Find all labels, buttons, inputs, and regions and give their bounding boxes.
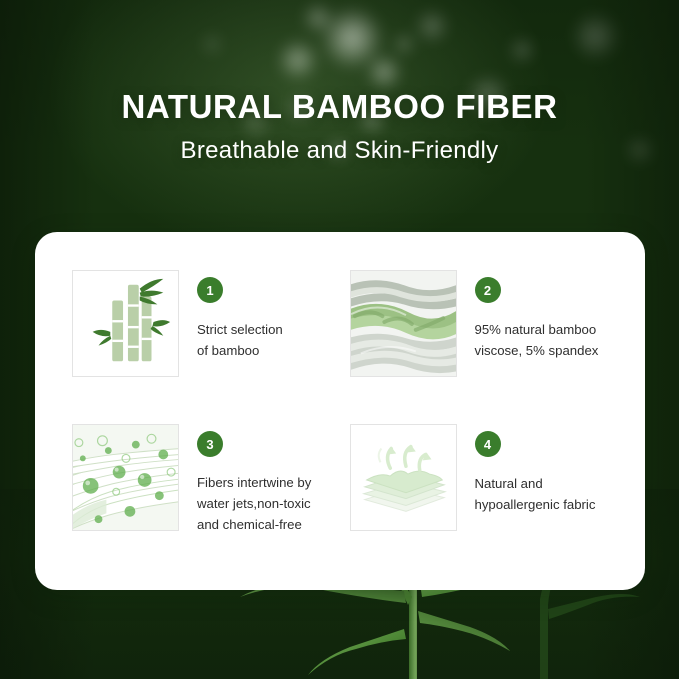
layered-fabric-icon [350, 424, 457, 531]
feature-2-text: 95% natural bamboo viscose, 5% spandex [475, 319, 616, 361]
feature-4-text: Natural and hypoallergenic fabric [475, 473, 616, 515]
feature-item-4: 4 Natural and hypoallergenic fabric [350, 424, 616, 560]
page-subtitle: Breathable and Skin-Friendly [0, 137, 679, 165]
feature-4-number-badge: 4 [475, 431, 501, 457]
twisted-fibers-icon [350, 270, 457, 377]
feature-3-body: 3 Fibers intertwine by water jets,non-to… [179, 424, 338, 535]
header: NATURAL BAMBOO FIBER Breathable and Skin… [0, 88, 679, 165]
feature-item-3: 3 Fibers intertwine by water jets,non-to… [72, 424, 338, 560]
page-title: NATURAL BAMBOO FIBER [0, 88, 679, 126]
bamboo-stalks-icon [72, 270, 179, 377]
feature-3-number-badge: 3 [197, 431, 223, 457]
feature-2-body: 2 95% natural bamboo viscose, 5% spandex [457, 270, 616, 361]
features-card: 1 Strict selection of bamboo [35, 232, 645, 590]
feature-1-body: 1 Strict selection of bamboo [179, 270, 338, 361]
feature-item-1: 1 Strict selection of bamboo [72, 270, 338, 406]
water-jet-fibers-icon [72, 424, 179, 531]
feature-1-number-badge: 1 [197, 277, 223, 303]
feature-3-text: Fibers intertwine by water jets,non-toxi… [197, 472, 338, 535]
feature-1-text: Strict selection of bamboo [197, 319, 338, 361]
feature-2-number-badge: 2 [475, 277, 501, 303]
feature-item-2: 2 95% natural bamboo viscose, 5% spandex [350, 270, 616, 406]
feature-4-body: 4 Natural and hypoallergenic fabric [457, 424, 616, 515]
product-infographic: NATURAL BAMBOO FIBER Breathable and Skin… [0, 0, 679, 679]
features-grid: 1 Strict selection of bamboo [35, 232, 645, 590]
